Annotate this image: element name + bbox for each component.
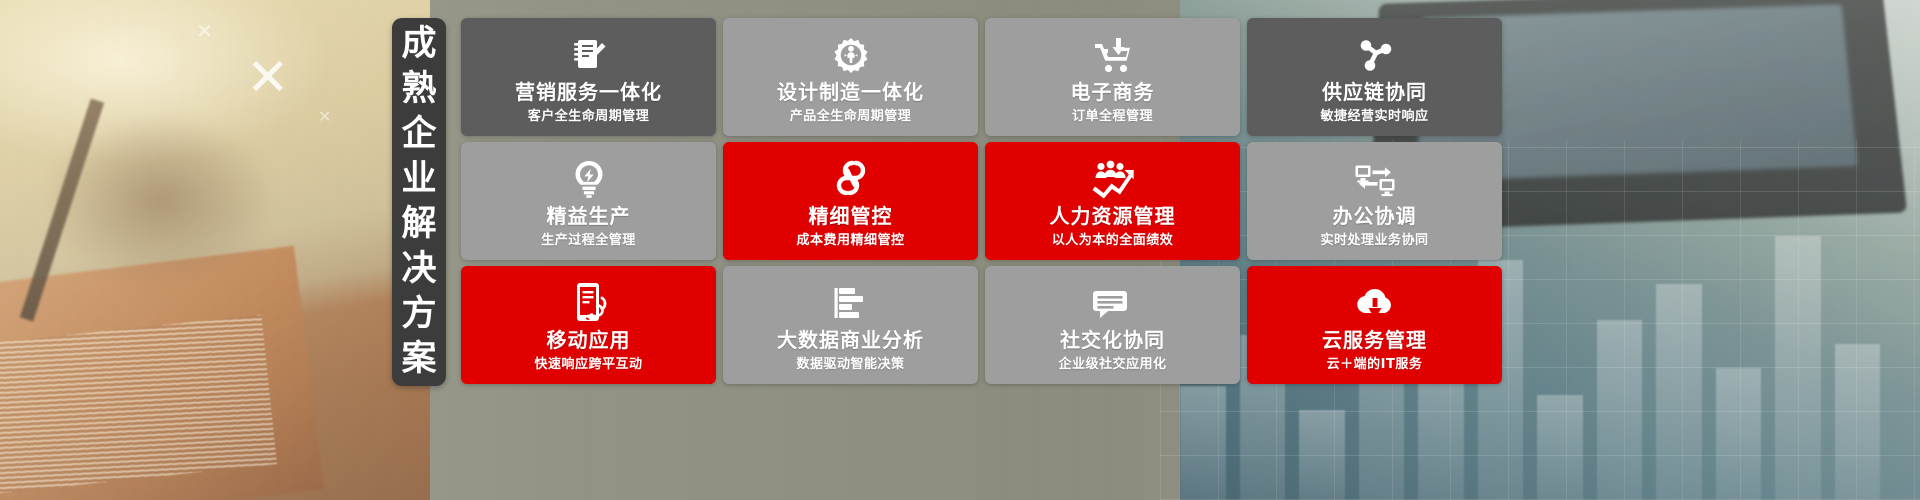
mobile-phone-icon (569, 279, 609, 323)
solution-card-big-data-analysis[interactable]: 大数据商业分析 数据驱动智能决策 (723, 266, 978, 384)
card-subtitle: 云＋端的IT服务 (1327, 358, 1423, 371)
card-title: 移动应用 (547, 330, 631, 350)
card-subtitle: 以人为本的全面绩效 (1052, 234, 1174, 247)
card-title: 社交化协同 (1060, 330, 1165, 350)
solution-card-supply-chain[interactable]: 供应链协同 敏捷经营实时响应 (1247, 18, 1502, 136)
card-subtitle: 客户全生命周期管理 (528, 110, 650, 123)
title-char: 熟 (401, 68, 436, 111)
people-growth-arrow-icon (1091, 155, 1135, 199)
solution-card-lean-production[interactable]: 精益生产 生产过程全管理 (461, 142, 716, 260)
card-subtitle: 快速响应跨平互动 (534, 358, 642, 371)
solution-card-fine-control[interactable]: 精细管控 成本费用精细管控 (723, 142, 978, 260)
vertical-title-bar: 成 熟 企 业 解 决 方 案 (392, 18, 446, 386)
solution-card-office-coordination[interactable]: 办公协调 实时处理业务协同 (1247, 142, 1502, 260)
card-title: 精益生产 (547, 206, 631, 226)
card-subtitle: 企业级社交应用化 (1058, 358, 1166, 371)
solution-card-ecommerce[interactable]: 电子商务 订单全程管理 (985, 18, 1240, 136)
devices-sync-icon (1353, 155, 1397, 199)
speech-bubble-icon (1091, 279, 1135, 323)
notebook-pen-icon (569, 31, 609, 75)
solution-card-human-resources[interactable]: 人力资源管理 以人为本的全面绩效 (985, 142, 1240, 260)
card-title: 供应链协同 (1322, 82, 1427, 102)
card-subtitle: 订单全程管理 (1072, 110, 1153, 123)
solution-card-grid: 营销服务一体化 客户全生命周期管理 设计制造一体化 产品全生命周期管理 (461, 18, 1502, 384)
title-char: 方 (401, 293, 436, 336)
title-char: 解 (401, 203, 436, 246)
solution-card-mobile-app[interactable]: 移动应用 快速响应跨平互动 (461, 266, 716, 384)
card-subtitle: 成本费用精细管控 (796, 234, 904, 247)
chain-link-icon (832, 155, 870, 199)
title-char: 企 (401, 113, 436, 156)
solution-card-cloud-service[interactable]: 云服务管理 云＋端的IT服务 (1247, 266, 1502, 384)
shopping-cart-download-icon (1092, 31, 1134, 75)
title-char: 业 (401, 158, 436, 201)
card-subtitle: 敏捷经营实时响应 (1320, 110, 1428, 123)
card-subtitle: 产品全生命周期管理 (790, 110, 912, 123)
solution-card-marketing-service[interactable]: 营销服务一体化 客户全生命周期管理 (461, 18, 716, 136)
title-char: 案 (401, 338, 436, 381)
title-char: 决 (401, 248, 436, 291)
title-char: 成 (401, 23, 436, 66)
lightbulb-bolt-icon (570, 155, 608, 199)
card-title: 设计制造一体化 (777, 82, 924, 102)
banner-root: ✕ ✕ ✕ 成 熟 企 业 解 决 方 案 (0, 0, 1920, 500)
card-title: 大数据商业分析 (777, 330, 924, 350)
cloud-upload-icon (1353, 279, 1397, 323)
card-title: 电子商务 (1071, 82, 1155, 102)
card-subtitle: 数据驱动智能决策 (796, 358, 904, 371)
solution-card-design-manufacturing[interactable]: 设计制造一体化 产品全生命周期管理 (723, 18, 978, 136)
card-title: 办公协调 (1333, 206, 1417, 226)
card-subtitle: 生产过程全管理 (541, 234, 636, 247)
card-title: 云服务管理 (1322, 330, 1427, 350)
solution-card-social-collaboration[interactable]: 社交化协同 企业级社交应用化 (985, 266, 1240, 384)
bar-chart-icon (831, 279, 871, 323)
network-nodes-icon (1355, 31, 1395, 75)
card-title: 营销服务一体化 (515, 82, 662, 102)
card-subtitle: 实时处理业务协同 (1320, 234, 1428, 247)
gear-person-icon (831, 31, 871, 75)
card-title: 人力资源管理 (1050, 206, 1176, 226)
card-title: 精细管控 (809, 206, 893, 226)
